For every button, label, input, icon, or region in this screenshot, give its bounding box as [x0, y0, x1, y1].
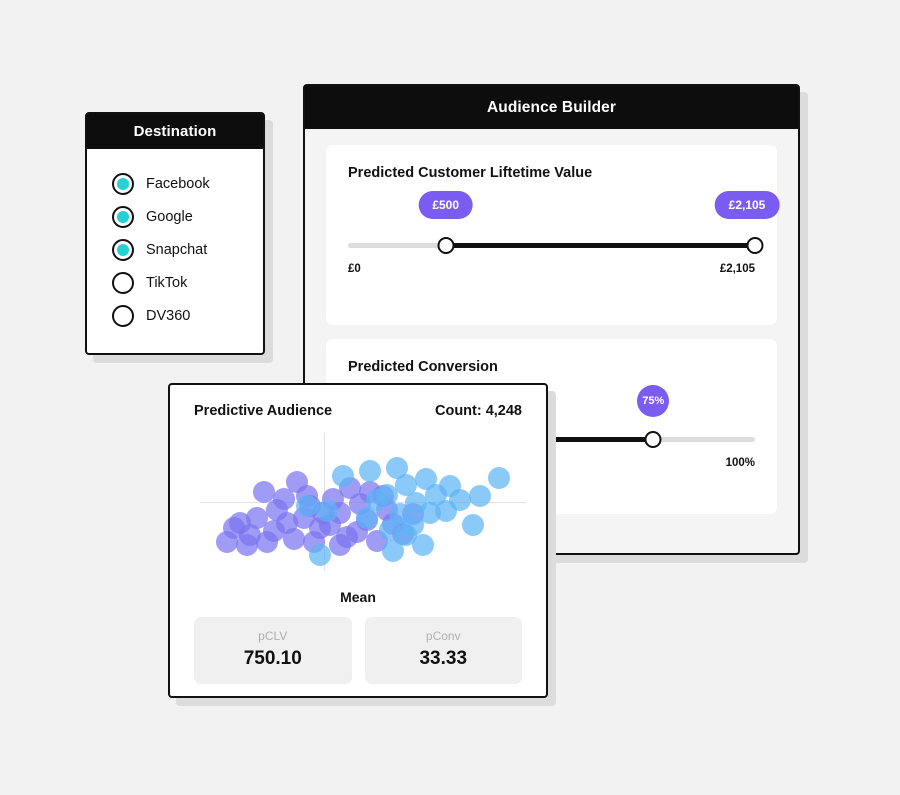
radio-selected-dot — [117, 244, 129, 256]
mean-heading: Mean — [194, 589, 522, 605]
pclv-low-handle[interactable] — [437, 237, 454, 254]
radio-button-icon[interactable] — [112, 206, 134, 228]
pconv-section-title: Predicted Conversion — [348, 359, 755, 375]
scatter-point — [488, 467, 510, 489]
scatter-point — [316, 500, 338, 522]
radio-button-icon[interactable] — [112, 239, 134, 261]
destination-option-tiktok[interactable]: TikTok — [87, 266, 263, 299]
destination-panel: Destination FacebookGoogleSnapchatTikTok… — [85, 112, 265, 355]
pclv-slider-track[interactable] — [348, 243, 755, 248]
audience-builder-title: Audience Builder — [305, 86, 798, 129]
pconv-handle[interactable] — [645, 431, 662, 448]
destination-option-snapchat[interactable]: Snapchat — [87, 233, 263, 266]
audience-count: Count: 4,248 — [435, 403, 522, 419]
radio-selected-dot — [117, 178, 129, 190]
destination-option-label: Snapchat — [146, 242, 207, 258]
scatter-point — [236, 534, 258, 556]
scatter-point — [435, 500, 457, 522]
destination-option-label: TikTok — [146, 275, 187, 291]
pclv-high-handle[interactable] — [747, 237, 764, 254]
predictive-audience-header: Predictive Audience Count: 4,248 — [194, 403, 522, 419]
destination-option-label: Google — [146, 209, 193, 225]
predictive-audience-body: Predictive Audience Count: 4,248 Mean pC… — [170, 385, 546, 684]
stat-box-pclv: pCLV750.10 — [194, 617, 352, 684]
stat-box-pconv: pConv33.33 — [365, 617, 523, 684]
scatter-point — [462, 514, 484, 536]
pclv-high-value-pill: £2,105 — [715, 191, 780, 219]
scatter-point — [359, 460, 381, 482]
destination-option-label: Facebook — [146, 176, 210, 192]
destination-option-facebook[interactable]: Facebook — [87, 167, 263, 200]
screenshot-root: Audience Builder Predicted Customer Lift… — [0, 0, 900, 795]
pclv-slider-fill — [446, 243, 755, 248]
radio-button-icon[interactable] — [112, 272, 134, 294]
pconv-max-label: 100% — [726, 457, 755, 469]
stat-label: pCLV — [194, 629, 352, 643]
pconv-value-pill: 75% — [637, 385, 669, 417]
radio-button-icon[interactable] — [112, 173, 134, 195]
scatter-point — [229, 512, 251, 534]
scatter-point — [329, 534, 351, 556]
audience-scatter-plot — [194, 433, 526, 573]
pclv-range-slider[interactable]: £500 £2,105 £0 £2,105 — [348, 191, 755, 297]
scatter-point — [283, 528, 305, 550]
pclv-low-value-pill: £500 — [418, 191, 473, 219]
destination-option-dv360[interactable]: DV360 — [87, 299, 263, 332]
destination-option-google[interactable]: Google — [87, 200, 263, 233]
stat-value: 750.10 — [194, 648, 352, 670]
radio-button-icon[interactable] — [112, 305, 134, 327]
scatter-point — [332, 465, 354, 487]
stat-value: 33.33 — [365, 648, 523, 670]
scatter-point — [273, 488, 295, 510]
pclv-max-label: £2,105 — [720, 263, 755, 275]
destination-title: Destination — [87, 114, 263, 149]
scatter-point — [395, 524, 417, 546]
predictive-audience-panel: Predictive Audience Count: 4,248 Mean pC… — [168, 383, 548, 698]
stat-label: pConv — [365, 629, 523, 643]
scatter-point — [356, 507, 378, 529]
mean-stats-row: pCLV750.10pConv33.33 — [194, 617, 522, 684]
radio-selected-dot — [117, 211, 129, 223]
scatter-point — [469, 485, 491, 507]
scatter-point — [309, 544, 331, 566]
destination-option-label: DV360 — [146, 308, 190, 324]
predictive-audience-title: Predictive Audience — [194, 403, 332, 419]
destination-options-list: FacebookGoogleSnapchatTikTokDV360 — [87, 149, 263, 332]
pclv-min-label: £0 — [348, 263, 361, 275]
pclv-section: Predicted Customer Liftetime Value £500 … — [326, 145, 777, 325]
pclv-section-title: Predicted Customer Liftetime Value — [348, 165, 755, 181]
scatter-point — [296, 495, 318, 517]
scatter-point — [216, 531, 238, 553]
